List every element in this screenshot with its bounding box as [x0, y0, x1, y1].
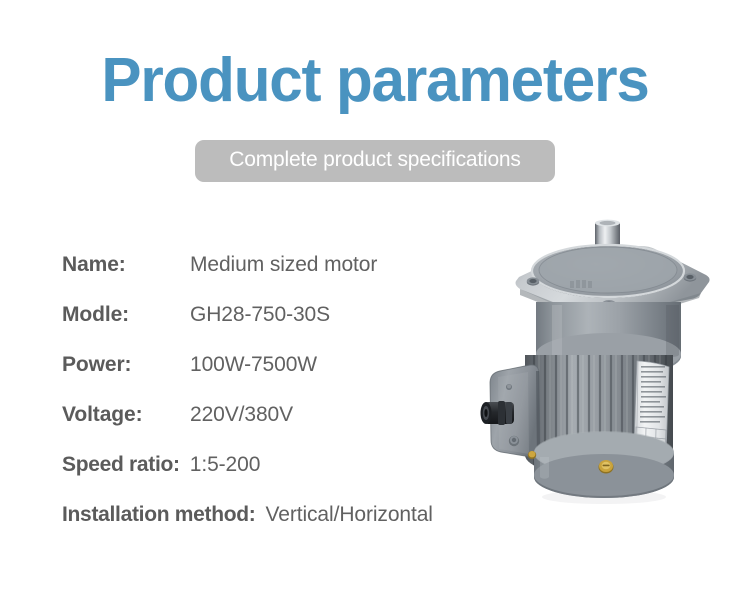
- subtitle-badge-container: Complete product specifications: [0, 140, 750, 182]
- body-brass-fitting: [528, 451, 536, 459]
- spec-value-voltage: 220V/380V: [190, 403, 293, 427]
- spec-label-name: Name:: [62, 253, 180, 277]
- motor-junction-box: [481, 365, 541, 463]
- spec-value-model: GH28-750-30S: [190, 303, 330, 327]
- spec-row-voltage: Voltage: 220V/380V: [62, 390, 532, 440]
- cable-gland: [481, 401, 515, 425]
- spec-row-model: Modle: GH28-750-30S: [62, 290, 532, 340]
- spec-value-installation-method: Vertical/Horizontal: [266, 503, 433, 527]
- spec-value-power: 100W-7500W: [190, 353, 317, 377]
- specification-list: Name: Medium sized motor Modle: GH28-750…: [62, 240, 532, 540]
- product-image-motor: [478, 205, 750, 515]
- spec-row-name: Name: Medium sized motor: [62, 240, 532, 290]
- spec-value-speed-ratio: 1:5-200: [190, 453, 261, 477]
- spec-label-voltage: Voltage:: [62, 403, 180, 427]
- spec-label-installation-method: Installation method:: [62, 503, 256, 527]
- spec-label-power: Power:: [62, 353, 180, 377]
- spec-row-power: Power: 100W-7500W: [62, 340, 532, 390]
- spec-label-speed-ratio: Speed ratio:: [62, 453, 180, 477]
- spec-label-model: Modle:: [62, 303, 180, 327]
- spec-value-name: Medium sized motor: [190, 253, 377, 277]
- spec-row-speed-ratio: Speed ratio: 1:5-200: [62, 440, 532, 490]
- subtitle-badge: Complete product specifications: [195, 140, 554, 182]
- product-parameters-banner: Product parameters Complete product spec…: [0, 0, 750, 600]
- spec-row-installation-method: Installation method: Vertical/Horizontal: [62, 490, 532, 540]
- motor-bottom-cap: [534, 431, 674, 498]
- page-title: Product parameters: [11, 48, 739, 114]
